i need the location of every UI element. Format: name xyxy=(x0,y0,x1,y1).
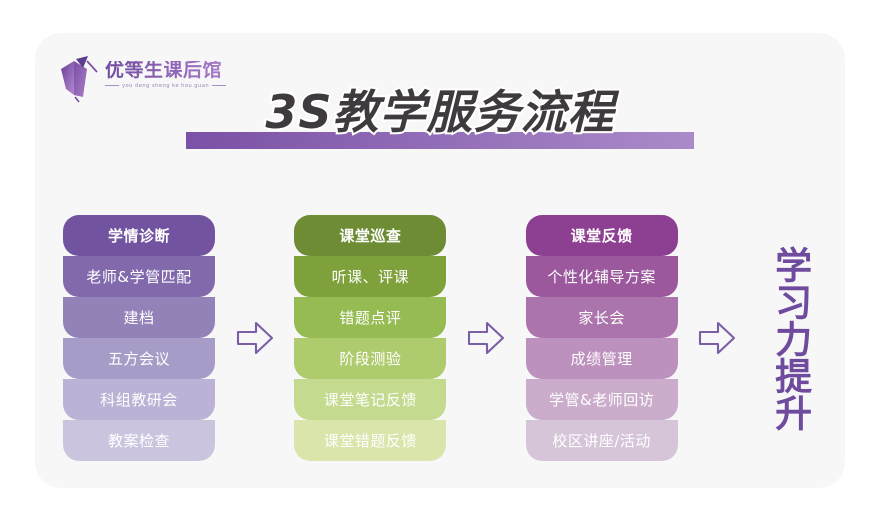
flow-item: 家长会 xyxy=(526,297,678,338)
flow-column-header: 学情诊断 xyxy=(63,215,215,256)
flow-item: 科组教研会 xyxy=(63,379,215,420)
flow-column-header: 课堂反馈 xyxy=(526,215,678,256)
flow-column-classroom-feedback: 课堂反馈 个性化辅导方案 家长会 成绩管理 学管&老师回访 校区讲座/活动 xyxy=(526,215,678,461)
flow-column-diagnosis: 学情诊断 老师&学管匹配 建档 五方会议 科组教研会 教案检查 xyxy=(63,215,215,461)
flow-outcome: 学习力提升 xyxy=(757,246,823,431)
flow-item: 教案检查 xyxy=(63,420,215,461)
flow-item: 建档 xyxy=(63,297,215,338)
arrow-right-outline-icon xyxy=(467,320,505,356)
poster-card: 优等生课后馆 you deng sheng ke hou guan 3S教学服务… xyxy=(35,33,845,488)
flow-column-header: 课堂巡查 xyxy=(294,215,446,256)
page-title-block: 3S教学服务流程 xyxy=(180,85,700,155)
diamond-pen-logo-icon xyxy=(57,55,105,105)
flow-item: 校区讲座/活动 xyxy=(526,420,678,461)
flow-diagram: 学情诊断 老师&学管匹配 建档 五方会议 科组教研会 教案检查 课堂巡查 听课、… xyxy=(63,213,823,463)
brand-name-cn: 优等生课后馆 xyxy=(105,61,255,81)
flow-item: 五方会议 xyxy=(63,338,215,379)
flow-item: 课堂笔记反馈 xyxy=(294,379,446,420)
flow-arrow-2 xyxy=(446,320,525,356)
flow-item: 成绩管理 xyxy=(526,338,678,379)
page-title: 3S教学服务流程 xyxy=(180,85,700,139)
flow-item: 老师&学管匹配 xyxy=(63,256,215,297)
flow-arrow-3 xyxy=(678,320,757,356)
flow-outcome-label: 学习力提升 xyxy=(770,246,809,431)
arrow-right-outline-icon xyxy=(698,320,736,356)
flow-item: 个性化辅导方案 xyxy=(526,256,678,297)
flow-column-classroom-inspection: 课堂巡查 听课、评课 错题点评 阶段测验 课堂笔记反馈 课堂错题反馈 xyxy=(294,215,446,461)
flow-item: 阶段测验 xyxy=(294,338,446,379)
arrow-right-outline-icon xyxy=(236,320,274,356)
flow-item: 错题点评 xyxy=(294,297,446,338)
pinyin-rule-left xyxy=(105,85,119,86)
flow-item: 学管&老师回访 xyxy=(526,379,678,420)
flow-item: 课堂错题反馈 xyxy=(294,420,446,461)
flow-arrow-1 xyxy=(215,320,294,356)
flow-item: 听课、评课 xyxy=(294,256,446,297)
